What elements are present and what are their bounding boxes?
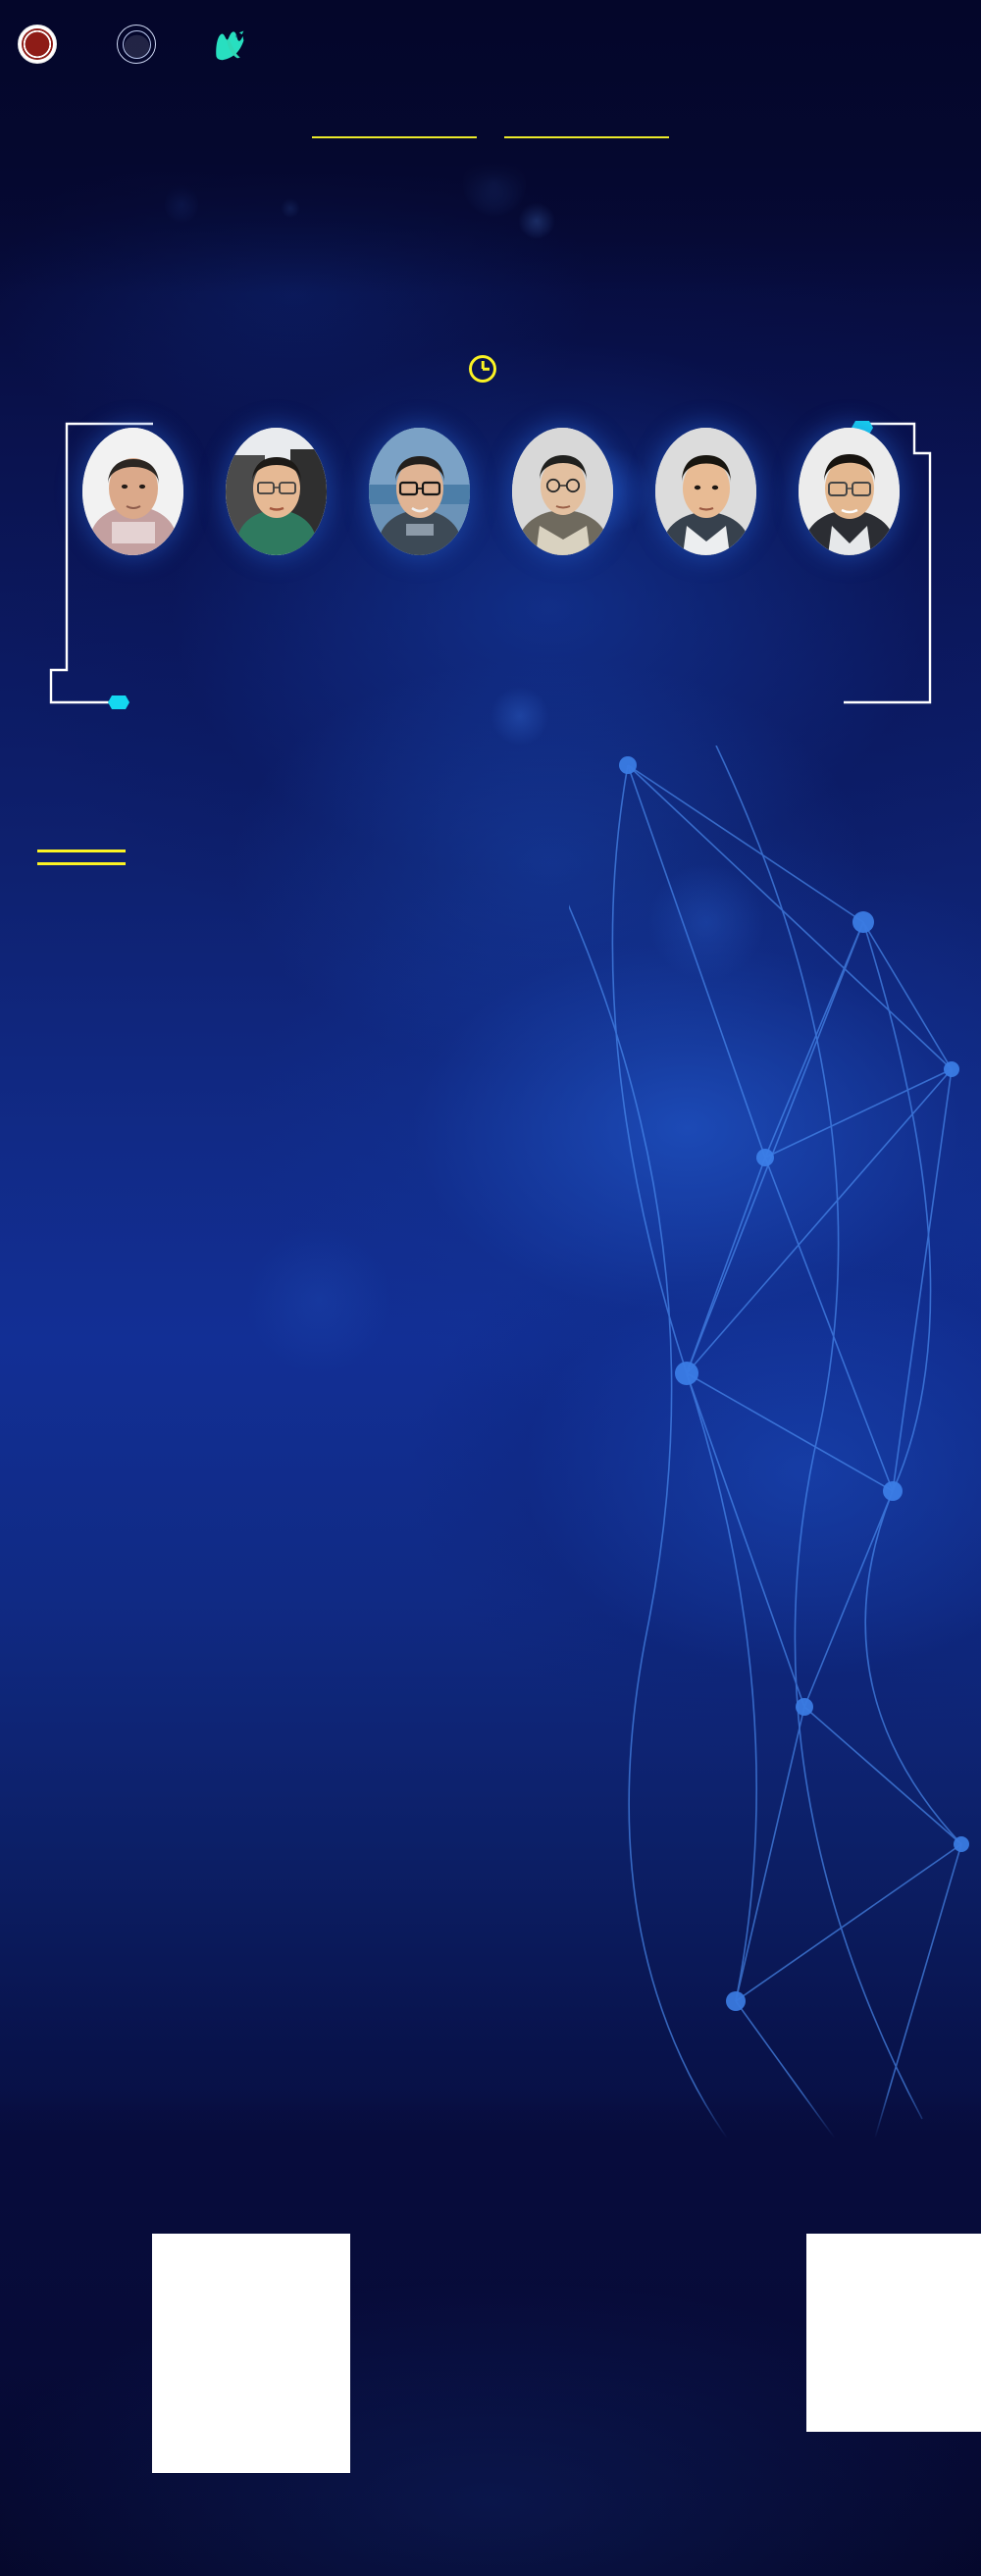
schedule-row	[37, 1007, 950, 1008]
logo-songshan-lake	[210, 26, 257, 62]
schedule-row	[37, 1211, 950, 1211]
schedule-row	[37, 1097, 950, 1101]
row-time	[37, 1121, 143, 1122]
event-date-row	[0, 355, 981, 383]
speaker-card	[789, 428, 909, 569]
schedule-row	[37, 1121, 950, 1122]
avatar	[82, 428, 183, 555]
ustc-seal-icon	[117, 25, 156, 64]
speakers-section	[0, 420, 981, 714]
heading-rule-bottom	[37, 862, 126, 865]
row-time	[37, 1029, 143, 1033]
iop-seal-char	[19, 26, 56, 63]
speaker-card	[645, 428, 766, 569]
header-logos	[0, 14, 981, 75]
speakers-list	[0, 420, 981, 714]
speaker-card	[216, 428, 336, 569]
divider-line-left	[312, 136, 477, 138]
row-time	[37, 1097, 143, 1101]
avatar	[226, 428, 327, 555]
schedule-row	[37, 1193, 950, 1194]
row-time	[37, 1079, 143, 1080]
avatar	[655, 428, 756, 555]
schedule-row	[37, 1232, 950, 1233]
speaker-card	[73, 428, 193, 569]
speaker-card	[502, 428, 623, 569]
schedule-row	[37, 1029, 950, 1033]
row-time	[37, 1143, 143, 1148]
schedule-list	[37, 966, 950, 1240]
row-time	[37, 1054, 143, 1058]
heading-rule-top	[37, 850, 126, 852]
qr-detail-image	[814, 2241, 981, 2424]
schedule-row	[37, 1143, 950, 1148]
online-meeting-badge	[0, 136, 981, 138]
schedule-row	[37, 983, 950, 987]
schedule-heading-block	[37, 850, 126, 865]
row-time	[37, 1007, 143, 1008]
clock-icon	[469, 355, 496, 383]
row-time	[37, 1232, 143, 1233]
logo-ustc	[117, 25, 165, 64]
qr-code-live[interactable]	[152, 2234, 350, 2473]
schedule-row	[37, 1079, 950, 1080]
avatar	[799, 428, 900, 555]
schedule-row	[37, 1054, 950, 1058]
songshan-lake-mark-icon	[210, 26, 249, 62]
schedule-row	[37, 1168, 950, 1172]
iop-seal-icon	[18, 25, 57, 64]
qr-code-detail[interactable]	[806, 2234, 981, 2432]
row-time	[37, 1193, 143, 1194]
divider-line-right	[504, 136, 669, 138]
row-time	[37, 983, 143, 987]
avatar	[512, 428, 613, 555]
avatar	[369, 428, 470, 555]
qr-live-image	[160, 2241, 342, 2465]
speaker-card	[359, 428, 480, 569]
row-time	[37, 1168, 143, 1172]
row-time	[37, 1211, 143, 1211]
logo-iop	[18, 25, 66, 64]
